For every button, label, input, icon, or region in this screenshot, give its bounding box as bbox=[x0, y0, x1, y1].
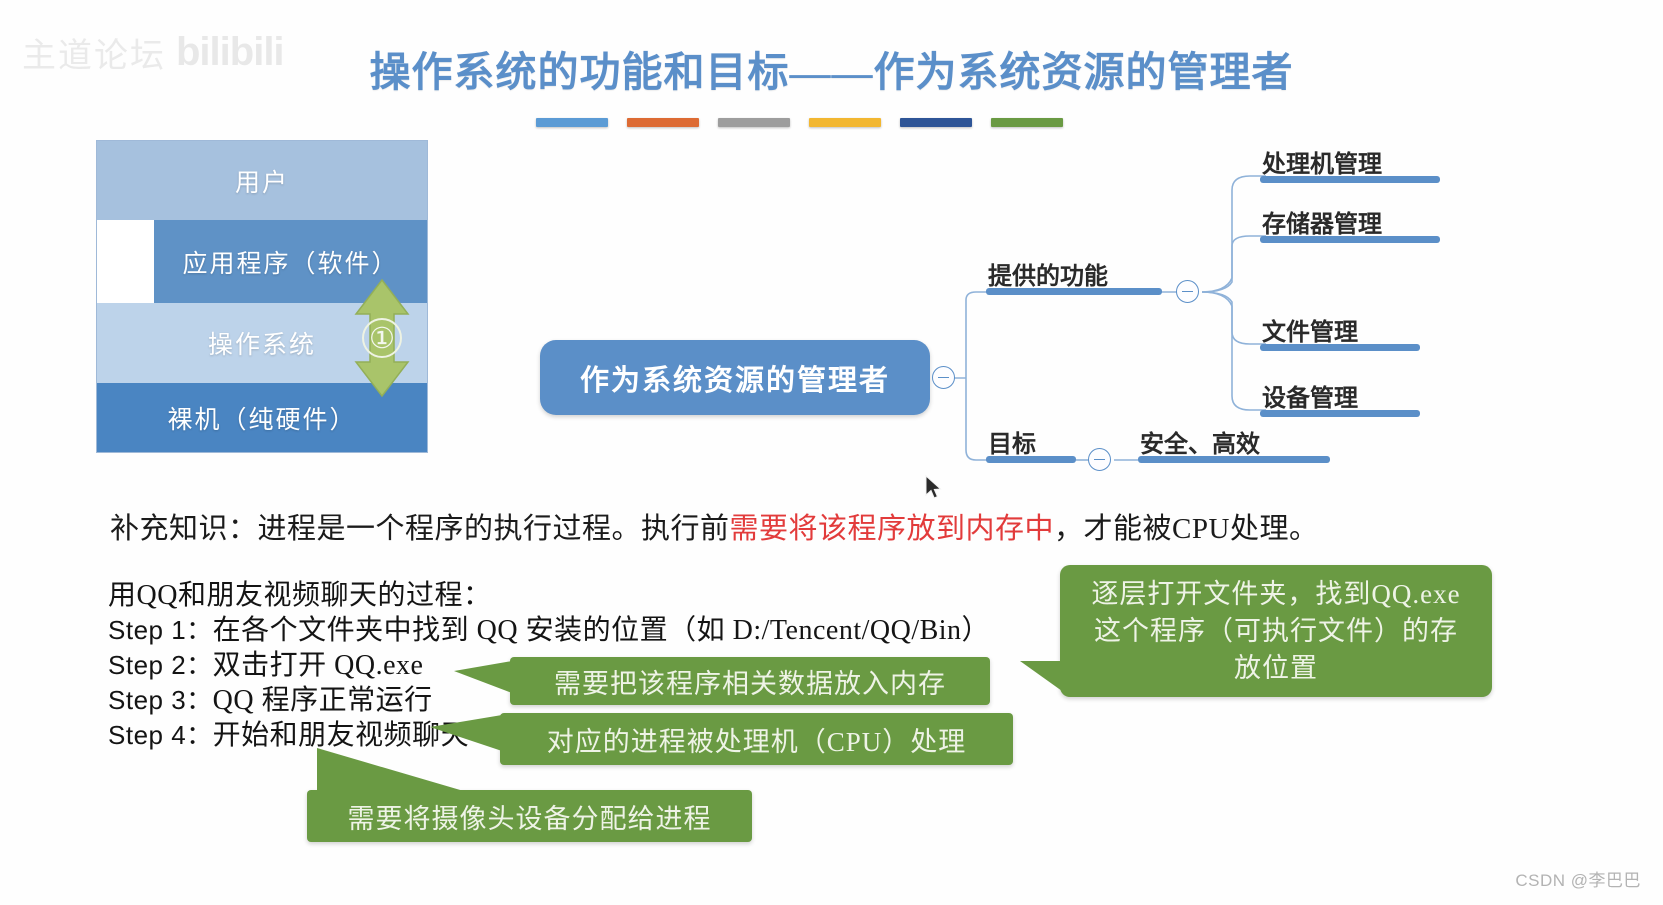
mindmap: 作为系统资源的管理者 提供的功能 处理机管理 存储器管理 文件管理 设备管理 目… bbox=[520, 150, 1450, 480]
rule-bar-6 bbox=[991, 118, 1063, 127]
minus-circle-icon-root[interactable] bbox=[932, 366, 955, 389]
mindmap-leaf-file[interactable]: 文件管理 bbox=[1262, 312, 1358, 347]
callout-camera-text: 需要将摄像头设备分配给进程 bbox=[348, 797, 712, 836]
mindmap-leaf-storage[interactable]: 存储器管理 bbox=[1262, 204, 1382, 239]
rule-bar-2 bbox=[627, 118, 699, 127]
underline-processor bbox=[1260, 176, 1440, 183]
underline-functions bbox=[986, 288, 1162, 295]
step-2-label: Step 2： bbox=[108, 650, 213, 680]
step-1-label: Step 1： bbox=[108, 615, 213, 645]
rule-bar-5 bbox=[900, 118, 972, 127]
step-row-1: Step 1：在各个文件夹中找到 QQ 安装的位置（如 D:/Tencent/Q… bbox=[108, 613, 990, 648]
callout-memory-text: 需要把该程序相关数据放入内存 bbox=[554, 662, 946, 701]
callout-file-line2: 这个程序（可执行文件）的存 bbox=[1094, 613, 1458, 650]
callout-file: 逐层打开文件夹，找到QQ.exe 这个程序（可执行文件）的存 放位置 bbox=[1060, 565, 1492, 697]
underline-device bbox=[1260, 410, 1420, 417]
callout-camera-tail-icon bbox=[317, 748, 467, 792]
underline-file bbox=[1260, 344, 1420, 351]
rule-bar-1 bbox=[536, 118, 608, 127]
title-rule-bars bbox=[536, 118, 1063, 127]
callout-file-line3: 放位置 bbox=[1234, 650, 1318, 687]
slide-canvas: 主道论坛 bilibili 操作系统的功能和目标——作为系统资源的管理者 用户 … bbox=[0, 0, 1663, 905]
callout-cpu-text: 对应的进程被处理机（CPU）处理 bbox=[547, 720, 967, 759]
supplement-prefix: 补充知识：进程是一个程序的执行过程。执行前 bbox=[110, 513, 730, 545]
layer-user: 用户 bbox=[97, 141, 427, 220]
callout-cpu-tail-icon bbox=[430, 715, 502, 751]
underline-safe-efficient bbox=[1138, 456, 1330, 463]
mindmap-leaf-device[interactable]: 设备管理 bbox=[1262, 378, 1358, 413]
underline-storage bbox=[1260, 236, 1440, 243]
steps-heading: 用QQ和朋友视频聊天的过程： bbox=[108, 578, 990, 613]
callout-file-tail-icon bbox=[1020, 661, 1062, 691]
callout-memory: 需要把该程序相关数据放入内存 bbox=[510, 657, 990, 705]
page-title: 操作系统的功能和目标——作为系统资源的管理者 bbox=[0, 38, 1663, 98]
arrow-badge-label: ① bbox=[369, 321, 395, 356]
rule-bar-3 bbox=[718, 118, 790, 127]
step-3-label: Step 3： bbox=[108, 685, 213, 715]
step-1-text: 在各个文件夹中找到 QQ 安装的位置（如 D:/Tencent/QQ/Bin） bbox=[213, 615, 990, 646]
underline-goal bbox=[986, 456, 1076, 463]
supplement-highlight: 需要将该程序放到内存中 bbox=[730, 513, 1055, 545]
mindmap-branch-goal[interactable]: 目标 bbox=[988, 424, 1036, 459]
step-2-text: 双击打开 QQ.exe bbox=[213, 650, 424, 681]
mindmap-branch-functions[interactable]: 提供的功能 bbox=[988, 256, 1108, 291]
minus-circle-icon-goal[interactable] bbox=[1088, 448, 1111, 471]
mindmap-root-node[interactable]: 作为系统资源的管理者 bbox=[540, 340, 930, 415]
step-4-label: Step 4： bbox=[108, 720, 213, 750]
minus-circle-icon-functions[interactable] bbox=[1176, 280, 1199, 303]
step-3-text: QQ 程序正常运行 bbox=[213, 685, 433, 716]
callout-camera: 需要将摄像头设备分配给进程 bbox=[307, 790, 752, 842]
callout-file-line1: 逐层打开文件夹，找到QQ.exe bbox=[1091, 576, 1460, 613]
rule-bar-4 bbox=[809, 118, 881, 127]
supplement-line: 补充知识：进程是一个程序的执行过程。执行前需要将该程序放到内存中，才能被CPU处… bbox=[110, 505, 1410, 547]
mindmap-leaf-processor[interactable]: 处理机管理 bbox=[1262, 144, 1382, 179]
mindmap-leaf-safe-efficient[interactable]: 安全、高效 bbox=[1140, 424, 1260, 459]
arrow-badge-number: ① bbox=[356, 315, 408, 361]
supplement-suffix: ，才能被CPU处理。 bbox=[1054, 513, 1318, 545]
callout-cpu: 对应的进程被处理机（CPU）处理 bbox=[500, 713, 1013, 765]
mouse-cursor-icon bbox=[925, 475, 943, 501]
csdn-watermark: CSDN @李巴巴 bbox=[1515, 866, 1641, 891]
callout-memory-tail-icon bbox=[454, 661, 512, 693]
